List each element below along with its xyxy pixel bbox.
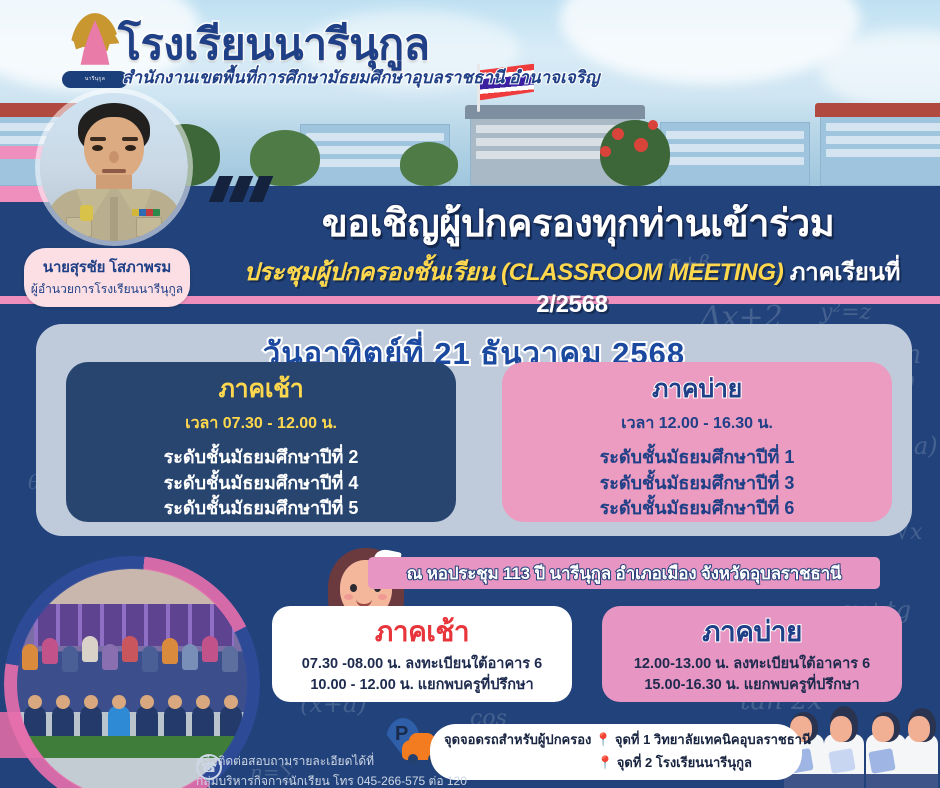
contact-line-2: กลุ่มบริหารกิจการนักเรียน โทร 045-266-57… (196, 772, 496, 788)
contact-info: หรือติดต่อสอบถามรายละเอียดได้ที่ กลุ่มบร… (196, 752, 496, 788)
session-levels-afternoon: ระดับชั้นมัธยมศึกษาปีที่ 1 ระดับชั้นมัธย… (502, 445, 892, 522)
director-nameplate: นายสุรชัย โสภาพรม ผู้อำนวยการโรงเรียนนาร… (24, 248, 190, 307)
map-pin-icon: 📍 (595, 732, 611, 747)
contact-line-1: หรือติดต่อสอบถามรายละเอียดได้ที่ (196, 752, 496, 771)
poster-root: Δx+2 lim x→0 f(x+a) sin α tan 2x √x y²=z… (0, 0, 940, 788)
detail-line: 12.00-13.00 น. ลงทะเบียนใต้อาคาร 6 (602, 654, 902, 675)
list-item: ระดับชั้นมัธยมศึกษาปีที่ 5 (66, 496, 456, 522)
session-box-afternoon: ภาคบ่าย เวลา 12.00 - 16.30 น. ระดับชั้นม… (502, 362, 892, 522)
list-item: ระดับชั้นมัธยมศึกษาปีที่ 3 (502, 471, 892, 497)
list-item: ระดับชั้นมัธยมศึกษาปีที่ 4 (66, 471, 456, 497)
detail-line: 07.30 -08.00 น. ลงทะเบียนใต้อาคาร 6 (272, 654, 572, 675)
parking-label: จุดจอดรถสำหรับผู้ปกครอง (444, 732, 591, 747)
detail-box-morning: ภาคเช้า 07.30 -08.00 น. ลงทะเบียนใต้อาคา… (272, 606, 572, 702)
venue-bar: ณ หอประชุม 113 ปี นารีนุกูล อำเภอเมือง จ… (368, 557, 880, 589)
parking-point-1: จุดที่ 1 วิทยาลัยเทคนิคอุบลราชธานี (615, 732, 811, 747)
school-subtitle: สำนักงานเขตพื้นที่การศึกษามัธยมศึกษาอุบล… (122, 64, 599, 91)
list-item: ระดับชั้นมัธยมศึกษาปีที่ 1 (502, 445, 892, 471)
headline-primary: ขอเชิญผู้ปกครองทุกท่านเข้าร่วม (228, 192, 928, 253)
session-title-morning: ภาคเช้า (66, 369, 456, 409)
list-item: ระดับชั้นมัธยมศึกษาปีที่ 2 (66, 445, 456, 471)
headline-secondary: ประชุมผู้ปกครองชั้นเรียน (CLASSROOM MEET… (214, 252, 930, 319)
map-pin-icon: 📍 (597, 755, 613, 770)
director-title: ผู้อำนวยการโรงเรียนนารีนุกูล (30, 280, 184, 299)
parking-line-1: จุดจอดรถสำหรับผู้ปกครอง 📍 จุดที่ 1 วิทยา… (444, 729, 788, 750)
parking-point-2: จุดที่ 2 โรงเรียนนารีนุกูล (617, 755, 752, 770)
session-box-morning: ภาคเช้า เวลา 07.30 - 12.00 น. ระดับชั้นม… (66, 362, 456, 522)
detail-title-morning: ภาคเช้า (272, 610, 572, 654)
session-levels-morning: ระดับชั้นมัธยมศึกษาปีที่ 2 ระดับชั้นมัธย… (66, 445, 456, 522)
detail-title-afternoon: ภาคบ่าย (602, 610, 902, 654)
director-name: นายสุรชัย โสภาพรม (30, 255, 184, 279)
session-title-afternoon: ภาคบ่าย (502, 369, 892, 409)
session-time-morning: เวลา 07.30 - 12.00 น. (66, 411, 456, 436)
session-time-afternoon: เวลา 12.00 - 16.30 น. (502, 411, 892, 436)
director-photo (40, 93, 188, 241)
detail-line: 10.00 - 12.00 น. แยกพบครูที่ปรึกษา (272, 675, 572, 696)
detail-box-afternoon: ภาคบ่าย 12.00-13.00 น. ลงทะเบียนใต้อาคาร… (602, 606, 902, 702)
headline-meeting-label: ประชุมผู้ปกครองชั้นเรียน (CLASSROOM MEET… (244, 259, 784, 286)
list-item: ระดับชั้นมัธยมศึกษาปีที่ 6 (502, 496, 892, 522)
